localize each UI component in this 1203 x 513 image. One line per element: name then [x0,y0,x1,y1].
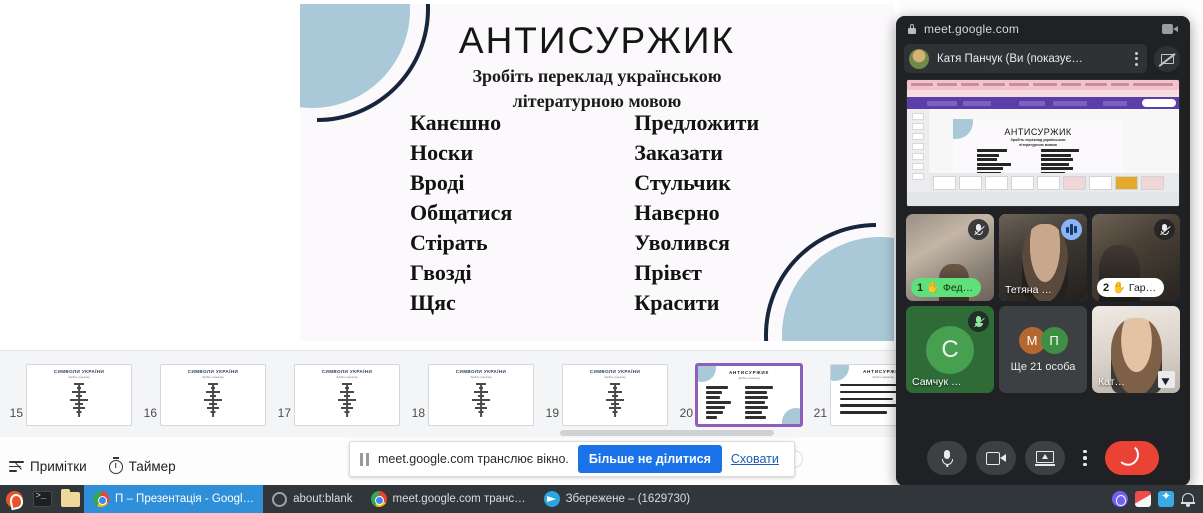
bluetooth-icon[interactable] [1158,491,1174,507]
slide-word-right-0: Предложити [634,112,759,134]
thumbnail-title: СИМВОЛИ УКРАЇНИ [27,369,131,374]
meet-url-bar: meet.google.com [896,16,1190,41]
mic-muted-icon [1154,219,1175,240]
stop-presenting-button[interactable] [1154,46,1180,72]
more-options-button[interactable] [1074,441,1096,475]
avatar [909,49,929,69]
present-screen-icon [1035,451,1055,466]
camera-button[interactable] [976,441,1016,475]
bell-icon[interactable] [1181,492,1195,507]
taskbar-item[interactable]: Збережене – (1629730) [535,485,700,513]
notes-label: Примітки [30,459,87,474]
microphone-button[interactable] [927,441,967,475]
camera-icon [986,452,1006,465]
slide-editor-stage: АНТИСУРЖИК Зробіть переклад українською … [0,0,900,348]
thumbnail-list: 15СИМВОЛИ УКРАЇНИЗробіть переклад16СИМВО… [0,351,900,439]
thumbnail-slide[interactable]: СИМВОЛИ УКРАЇНИЗробіть переклад [562,364,668,426]
thumbnail-number: 19 [542,406,559,426]
thumbnail-number: 16 [140,406,157,426]
current-slide[interactable]: АНТИСУРЖИК Зробіть переклад українською … [300,4,894,341]
word-column-right: ПредложитиЗаказатиСтульчикНавєрноУволивс… [634,112,759,314]
slide-subtitle: Зробіть переклад українською літературно… [300,64,894,114]
slide-word-right-1: Заказати [634,142,759,164]
shared-screen-preview[interactable]: АНТИСУРЖИК Зробіть переклад українськоюл… [906,79,1180,207]
telegram-icon [544,491,560,507]
phone-hangup-icon [1120,446,1143,470]
word-column-left: КанєшноНоскиВродіОбщатисяСтіратьГвоздіЩя… [410,112,512,314]
timer-icon [109,460,123,474]
slide-word-right-2: Стульчик [634,172,759,194]
thumbnail-item[interactable]: 18СИМВОЛИ УКРАЇНИЗробіть переклад [408,364,534,426]
system-tray [1112,491,1203,507]
notes-button[interactable]: Примітки [9,459,87,474]
screen: АНТИСУРЖИК Зробіть переклад українською … [0,0,1203,513]
thumbnail-graphic [200,383,226,417]
chrome-icon [93,491,109,507]
screenshare-notification-bar: meet.google.com транслює вікно. Більше н… [349,441,795,477]
raised-hand-badge: 2 ✋ Гар… [1097,278,1164,297]
thumbnail-subtitle: Зробіть переклад [295,376,399,379]
participant-name: Самчук … [912,376,962,388]
participant-tile[interactable]: 2 ✋ Гар… [1092,214,1180,301]
participant-name: Кат… [1098,376,1125,388]
thumbnail-slide[interactable]: СИМВОЛИ УКРАЇНИЗробіть переклад [26,364,132,426]
slide-word-right-3: Навєрно [634,202,759,224]
slide-subtitle-line2: літературною мовою [300,89,894,114]
filmstrip-scrollbar[interactable] [560,430,774,436]
thumbnail-number: 20 [676,406,693,426]
timer-label: Таймер [129,459,176,474]
share-message: meet.google.com транслює вікно. [378,452,569,466]
avatar: П [1041,327,1068,354]
thumbnail-subtitle: Зробіть переклад [27,376,131,379]
meet-control-bar [896,430,1190,486]
taskbar-item[interactable]: about:blank [263,485,361,513]
thumbnail-item[interactable]: 17СИМВОЛИ УКРАЇНИЗробіть переклад [274,364,400,426]
mic-muted-icon [968,311,989,332]
thumbnail-item[interactable]: 19СИМВОЛИ УКРАЇНИЗробіть переклад [542,364,668,426]
thumbnail-graphic [334,383,360,417]
preview-app-toolbar [907,97,1179,109]
thumbnail-item[interactable]: 15СИМВОЛИ УКРАЇНИЗробіть переклад [6,364,132,426]
microphone-icon [942,450,953,467]
thumbnail-item[interactable]: 16СИМВОЛИ УКРАЇНИЗробіть переклад [140,364,266,426]
participant-tiles: 1 ✋ Фед…Тетяна …2 ✋ Гар…ССамчук …МПЩе 21… [896,207,1190,393]
thumbnail-title: СИМВОЛИ УКРАЇНИ [161,369,265,374]
slide-word-left-2: Вроді [410,172,512,194]
timer-button[interactable]: Таймер [109,459,176,474]
chrome-icon [371,491,387,507]
slide-word-right-6: Красити [634,292,759,314]
presenter-row: Катя Панчук (Ви (показує… [896,41,1190,79]
notes-icon [9,460,24,473]
red-app-icon[interactable] [1135,491,1151,507]
thumbnail-slide[interactable]: СИМВОЛИ УКРАЇНИЗробіть переклад [428,364,534,426]
slide-title: АНТИСУРЖИК [300,20,894,62]
preview-address-bar [907,90,1179,97]
participant-name: Гар… [1129,282,1156,294]
thumbnail-subtitle: Зробіть переклад [563,376,667,379]
slide-word-left-5: Гвозді [410,262,512,284]
thumbnail-number: 18 [408,406,425,426]
taskbar-item-label: about:blank [293,493,352,505]
expand-icon[interactable] [1158,371,1175,388]
firefox-icon[interactable] [0,485,28,513]
thumbnail-subtitle: Зробіть переклад [429,376,533,379]
hide-share-bar-link[interactable]: Сховати [731,452,779,466]
present-screen-button[interactable] [1025,441,1065,475]
thumbnail-title: СИМВОЛИ УКРАЇНИ [295,369,399,374]
preview-slide-title: АНТИСУРЖИК [953,127,1123,137]
pause-icon[interactable] [360,453,369,466]
slide-word-left-3: Общатися [410,202,512,224]
slide-word-left-6: Щяс [410,292,512,314]
preview-browser-tabs [907,80,1179,90]
participant-name: Тетяна … [1005,284,1052,296]
participant-tile[interactable]: Тетяна … [999,214,1087,301]
preview-filmstrip-rail [907,109,929,192]
google-meet-panel[interactable]: meet.google.com Катя Панчук (Ви (показує… [896,16,1190,486]
thumbnail-slide[interactable]: СИМВОЛИ УКРАЇНИЗробіть переклад [160,364,266,426]
more-options-icon [1083,450,1087,467]
taskbar: П – Презентація - Googl…about:blankmeet.… [0,485,1203,513]
taskbar-item-label: meet.google.com транс… [393,493,526,505]
files-icon[interactable] [56,485,84,513]
word-columns: КанєшноНоскиВродіОбщатисяСтіратьГвоздіЩя… [410,112,830,314]
viber-icon[interactable] [1112,491,1128,507]
slide-filmstrip[interactable]: 15СИМВОЛИ УКРАЇНИЗробіть переклад16СИМВО… [0,350,900,438]
more-participants-label: Ще 21 особа [1011,361,1076,373]
taskbar-windows: П – Презентація - Googl…about:blankmeet.… [84,485,699,513]
thumbnail-number: 15 [6,406,23,426]
ring-icon [272,492,287,507]
participant-tile[interactable]: Кат… [1092,306,1180,393]
stop-sharing-button[interactable]: Більше не ділитися [578,445,722,473]
taskbar-item-label: Збережене – (1629730) [566,493,691,505]
editor-background-right [795,437,900,485]
participant-name: Фед… [943,282,973,294]
thumbnail-title: СИМВОЛИ УКРАЇНИ [429,369,533,374]
participant-tile[interactable]: МПЩе 21 особа [999,306,1087,393]
preview-content: АНТИСУРЖИК Зробіть переклад українськоюл… [907,109,1179,206]
slide-word-left-0: Канєшно [410,112,512,134]
thumbnail-item[interactable]: 20АНТИСУРЖИКЗробіть переклад [676,364,802,426]
speaking-indicator-icon [1061,219,1082,240]
camera-icon [1162,24,1178,34]
taskbar-item-label: П – Презентація - Googl… [115,493,254,505]
presenter-name: Катя Панчук (Ви (показує… [937,53,1121,65]
thumbnail-graphic [468,383,494,417]
slide-word-right-4: Уволився [634,232,759,254]
slide-word-right-5: Прівєт [634,262,759,284]
raised-hand-badge: 1 ✋ Фед… [911,278,981,297]
taskbar-item[interactable]: П – Презентація - Googl… [84,485,263,513]
slide-subtitle-line1: Зробіть переклад українською [300,64,894,89]
lock-icon [908,24,916,34]
presenter-chip[interactable]: Катя Панчук (Ви (показує… [904,44,1147,73]
thumbnail-subtitle: Зробіть переклад [161,376,265,379]
thumbnail-graphic [66,383,92,417]
presenter-more-icon[interactable] [1129,52,1143,66]
meet-url-label: meet.google.com [924,22,1019,36]
participant-tile[interactable]: 1 ✋ Фед… [906,214,994,301]
participant-tile[interactable]: ССамчук … [906,306,994,393]
thumbnail-slide[interactable]: АНТИСУРЖИКЗробіть переклад [696,364,802,426]
thumbnail-number: 17 [274,406,291,426]
thumbnail-number: 21 [810,406,827,426]
preview-thumbnails [929,173,1179,192]
thumbnail-subtitle: Зробіть переклад [698,377,800,380]
terminal-icon[interactable] [28,485,56,513]
taskbar-item[interactable]: meet.google.com транс… [362,485,535,513]
hang-up-button[interactable] [1105,441,1159,475]
thumbnail-graphic [602,383,628,417]
editor-background-left [0,437,349,448]
thumbnail-title: СИМВОЛИ УКРАЇНИ [563,369,667,374]
mic-muted-icon [968,219,989,240]
slide-word-left-4: Стірать [410,232,512,254]
slide-word-left-1: Носки [410,142,512,164]
thumbnail-slide[interactable]: СИМВОЛИ УКРАЇНИЗробіть переклад [294,364,400,426]
notes-timer-toolbar: Примітки Таймер [0,448,349,485]
